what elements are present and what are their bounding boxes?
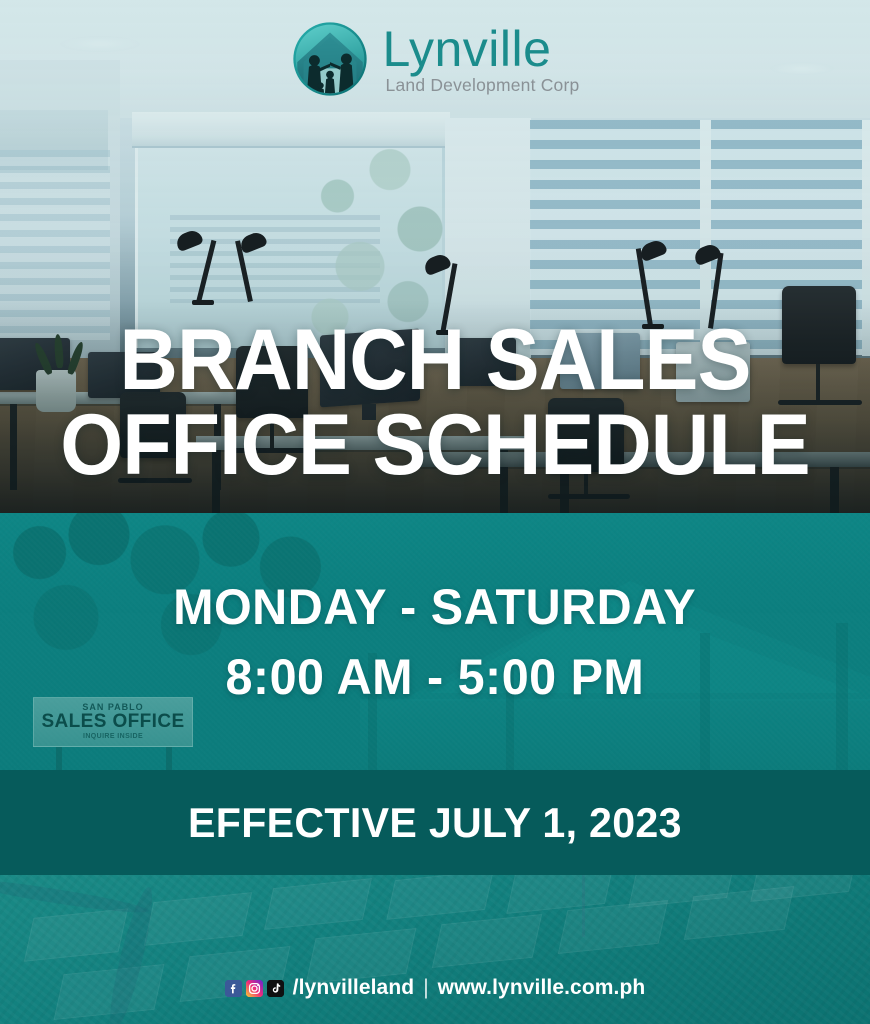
facebook-icon[interactable]	[225, 980, 242, 997]
tiktok-icon[interactable]	[267, 980, 284, 997]
schedule-hours: 8:00 AM - 5:00 PM	[226, 648, 645, 706]
title-line-1: BRANCH SALES	[26, 318, 844, 403]
title-line-2: OFFICE SCHEDULE	[26, 403, 844, 488]
brand-header: Lynville Land Development Corp	[0, 0, 870, 118]
instagram-icon[interactable]	[246, 980, 263, 997]
schedule-text-block: MONDAY - SATURDAY 8:00 AM - 5:00 PM	[0, 513, 870, 770]
page-title: BRANCH SALES OFFICE SCHEDULE	[0, 318, 870, 488]
brand-tagline: Land Development Corp	[386, 77, 580, 95]
effective-date-text: EFFECTIVE JULY 1, 2023	[188, 799, 682, 847]
website-url[interactable]: www.lynville.com.ph	[438, 976, 646, 1000]
effective-date-band: EFFECTIVE JULY 1, 2023	[0, 770, 870, 875]
social-icons	[225, 980, 284, 997]
brand-name: Lynville	[383, 24, 552, 74]
footer-bar: /lynvilleland | www.lynville.com.ph	[0, 968, 870, 1008]
house-family-circle-logo-icon	[291, 20, 369, 98]
brand-wordmark: Lynville Land Development Corp	[383, 24, 580, 95]
schedule-days: MONDAY - SATURDAY	[174, 578, 697, 636]
footer-separator: |	[423, 976, 428, 1000]
social-handle[interactable]: /lynvilleland	[293, 976, 415, 1000]
poster-canvas: Lynville Land Development Corp BRANCH SA…	[0, 0, 870, 1024]
